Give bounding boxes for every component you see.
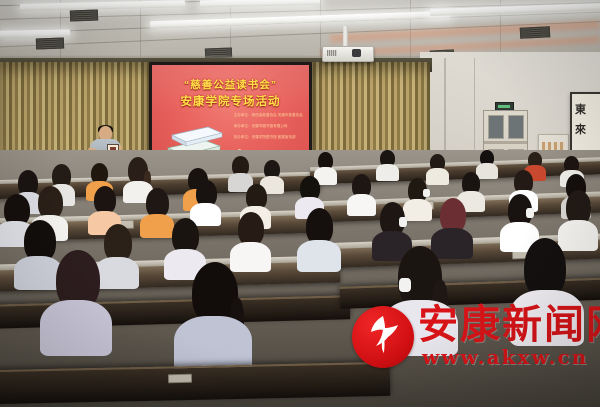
slide-title-line1: “慈善公益读书会” xyxy=(152,77,309,92)
torso xyxy=(376,164,399,181)
face-mask xyxy=(423,189,430,197)
torso xyxy=(347,194,376,216)
projector-lens xyxy=(352,49,361,57)
face-mask xyxy=(399,278,411,292)
torso xyxy=(95,257,139,289)
torso xyxy=(297,240,341,272)
door-glass-panel xyxy=(508,115,524,139)
torso xyxy=(558,220,598,251)
ceiling-light-strip xyxy=(0,29,70,37)
watermark: A 安康新闻网 www.akxw.cn xyxy=(352,302,596,378)
torso xyxy=(14,256,62,290)
projector-mount-pole xyxy=(343,26,348,48)
torso xyxy=(403,199,432,221)
face-mask xyxy=(526,208,534,218)
ceiling-light-strip xyxy=(200,0,320,7)
calligraphy-artwork: 東 來 xyxy=(570,92,600,158)
hair xyxy=(524,238,566,298)
bird-glyph-icon: A xyxy=(352,306,414,368)
hair xyxy=(94,186,116,214)
svg-text:A: A xyxy=(376,346,386,359)
news-site-name: 安康新闻网 xyxy=(418,304,600,346)
face-mask xyxy=(399,217,407,227)
ceiling-vent xyxy=(520,26,551,39)
projector-vent xyxy=(327,50,337,56)
ceiling-light-strip xyxy=(20,0,185,11)
calligraphy-char-2: 來 xyxy=(575,124,586,135)
ceiling-vent xyxy=(36,38,64,50)
torso xyxy=(426,168,449,185)
hair xyxy=(238,212,264,246)
torso xyxy=(230,242,271,272)
photo-scene: “慈善公益读书会” 安康学院专场活动 主办单位：陕西省慈善协会 安康市慈善协会 … xyxy=(0,0,600,407)
torso xyxy=(431,228,473,259)
torso xyxy=(40,300,112,356)
torso xyxy=(476,163,498,179)
door-glass-panel xyxy=(488,115,504,139)
calligraphy-char-1: 東 xyxy=(575,104,586,115)
news-site-url: www.akxw.cn xyxy=(422,346,588,368)
slide-title-line2: 安康学院专场活动 xyxy=(152,93,309,109)
slide-subtitle-line3: 协办单位：安康学院图书馆 团委宣传部 xyxy=(234,135,309,140)
news-site-logo-icon: A xyxy=(352,306,414,368)
ceiling-vent xyxy=(70,10,98,22)
slide-subtitle-line2: 承办单位：安康市图书馆有限公司 xyxy=(234,124,309,129)
desk-number-plate xyxy=(168,374,192,384)
torso xyxy=(140,214,174,238)
slide-subtitle-line1: 主办单位：陕西省慈善协会 安康市慈善协会 xyxy=(234,113,309,118)
